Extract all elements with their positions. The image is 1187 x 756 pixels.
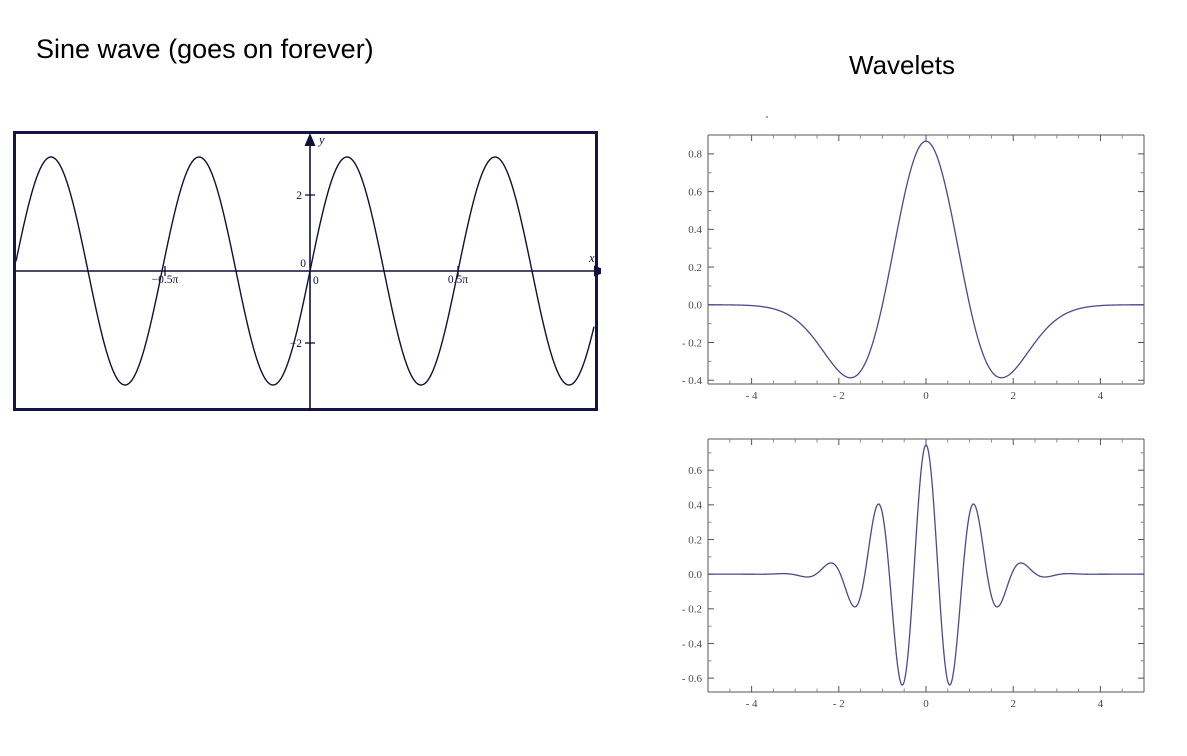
sine-x-tick-label-neg-half-pi: −0.5π	[152, 274, 179, 286]
y-tick-label: 0.4	[688, 500, 702, 512]
morlet-curve	[708, 445, 1144, 685]
mexican-hat-plot-svg: 0.80.60.40.20.0- 0.2- 0.4- 4- 2024	[663, 112, 1175, 414]
sine-x-tick-label-half-pi: 0.5π	[448, 274, 468, 286]
x-tick-label: - 2	[833, 390, 845, 402]
y-tick-label: 0.6	[688, 186, 702, 198]
x-tick-label: 0	[923, 390, 929, 402]
y-tick-label: - 0.2	[682, 604, 702, 616]
x-tick-label: - 4	[746, 390, 758, 402]
sine-x-tick-label-0: 0	[313, 275, 319, 287]
sine-y-axis-label: y	[317, 134, 325, 147]
y-tick-label: 0.6	[688, 465, 702, 477]
x-tick-label: 2	[1010, 390, 1016, 402]
y-tick-label: - 0.2	[682, 337, 702, 349]
y-tick-label: 0.2	[688, 534, 702, 546]
sine-y-tick-label-neg2: −2	[290, 338, 302, 350]
mexican-hat-wavelet-chart: 0.80.60.40.20.0- 0.2- 0.4- 4- 2024	[663, 112, 1175, 414]
x-tick-label: - 4	[746, 698, 758, 710]
sine-wave-chart: y x 2 −2 0 −0.5π 0.5π 0	[13, 131, 598, 411]
x-tick-label: 4	[1098, 390, 1104, 402]
morlet-tick-labels: 0.60.40.20.0- 0.2- 0.4- 0.6- 4- 2024	[682, 465, 1104, 710]
y-tick-label: - 0.4	[682, 638, 703, 650]
x-tick-label: - 2	[833, 698, 845, 710]
y-tick-label: - 0.6	[682, 673, 703, 685]
y-tick-label: 0.0	[688, 300, 702, 312]
sine-x-axis-label: x	[588, 251, 595, 265]
page-title-wavelets: Wavelets	[849, 50, 955, 81]
x-tick-label: 2	[1010, 698, 1016, 710]
mexican-hat-tick-labels: 0.80.60.40.20.0- 0.2- 0.4- 4- 2024	[682, 149, 1104, 402]
sine-wave-plot-svg: y x 2 −2 0 −0.5π 0.5π 0	[16, 134, 601, 414]
y-tick-label: 0.2	[688, 262, 702, 274]
y-tick-label: 0.0	[688, 569, 702, 581]
sine-y-tick-label-2: 2	[296, 190, 302, 202]
y-tick-label: 0.8	[688, 149, 702, 161]
morlet-frame	[708, 439, 1144, 692]
morlet-plot-svg: 0.60.40.20.0- 0.2- 0.4- 0.6- 4- 2024	[663, 424, 1175, 730]
x-tick-label: 4	[1098, 698, 1104, 710]
y-tick-label: - 0.4	[682, 375, 703, 387]
morlet-ticks	[708, 439, 1144, 692]
morlet-wavelet-chart: 0.60.40.20.0- 0.2- 0.4- 0.6- 4- 2024	[663, 424, 1175, 730]
page-title-sine-wave: Sine wave (goes on forever)	[36, 34, 374, 65]
mexican-hat-frame	[708, 135, 1144, 384]
stray-speck-icon	[766, 116, 768, 118]
sine-y-tick-label-0: 0	[300, 258, 306, 270]
mexican-hat-curve	[708, 141, 1144, 378]
y-tick-label: 0.4	[688, 224, 702, 236]
x-tick-label: 0	[923, 698, 929, 710]
mexican-hat-ticks	[708, 135, 1144, 384]
